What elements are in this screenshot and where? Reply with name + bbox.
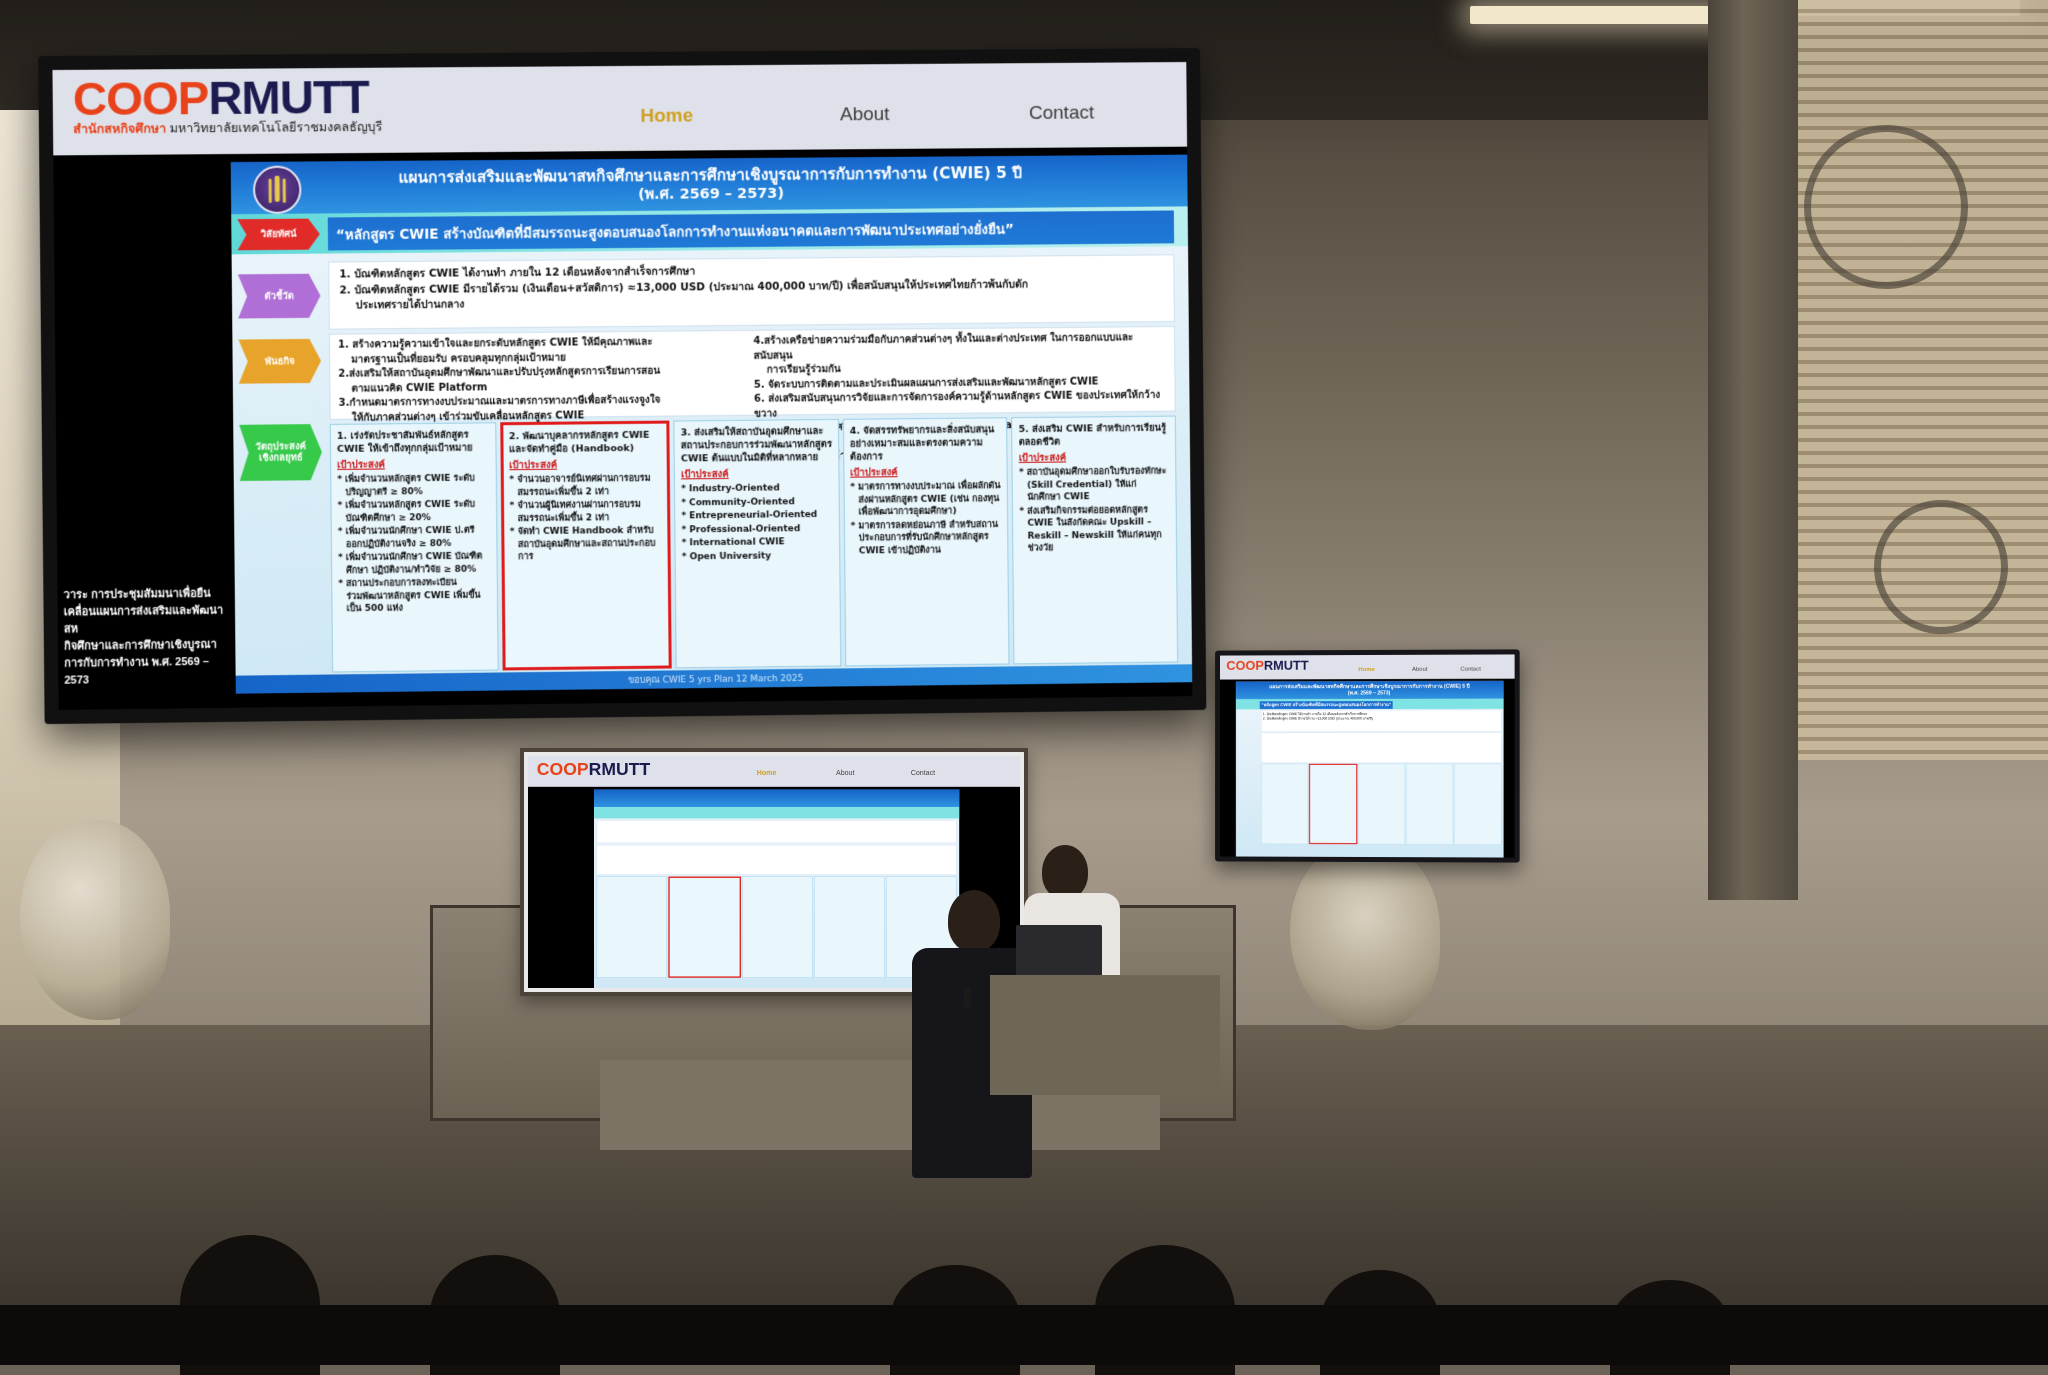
site-header: COOPRMUTT สำนักสหกิจศึกษา มหาวิทยาลัยเทค… — [52, 62, 1187, 155]
objectives-row: 1. เร่งรัดประชาสัมพันธ์หลักสูตร CWIE ให้… — [330, 416, 1178, 673]
objective-4-heading: 4. จัดสรรทรัพยากรและสิ่งสนับสนุนอย่างเหม… — [850, 423, 1001, 463]
objective-column-2-highlighted: 2. พัฒนาบุคลากรหลักสูตร CWIE และจัดทำคู่… — [500, 421, 672, 671]
tv-screen: COOPRMUTT สำนักสหกิจศึกษา มหาวิทยาลัยเทค… — [52, 62, 1192, 710]
objective-3-goal-label: เป้าประสงค์ — [681, 466, 832, 483]
kpi-box: 1. บัณฑิตหลักสูตร CWIE ได้งานทำ ภายใน 12… — [328, 254, 1175, 329]
nav-item-about[interactable]: About — [840, 104, 890, 126]
presentation-slide: แผนการส่งเสริมและพัฒนาสหกิจศึกษาและการศึ… — [231, 155, 1193, 694]
slide-title-bar: แผนการส่งเสริมและพัฒนาสหกิจศึกษาและการศึ… — [231, 155, 1188, 215]
tag-obj-line2: เชิงกลยุทธ์ — [259, 452, 303, 463]
audience-row-shadow — [0, 1305, 2048, 1365]
objective-3-item-5: * International CWIE — [682, 536, 833, 550]
site-brand-logo[interactable]: COOPRMUTT สำนักสหกิจศึกษา มหาวิทยาลัยเทค… — [73, 71, 421, 137]
objective-5-item-2: * ส่งเสริมกิจกรรมต่อยอดหลักสูตร CWIE ในส… — [1019, 504, 1170, 555]
objective-1-item-3: * เพิ่มจำนวนนักศึกษา CWIE ป.ตรี ออกปฏิบั… — [338, 524, 490, 551]
objective-5-heading: 5. ส่งเสริม CWIE สำหรับการเรียนรู้ตลอดชี… — [1018, 422, 1169, 449]
mission-column-left: 1. สร้างความรู้ความเข้าใจและยกระดับหลักส… — [338, 335, 754, 415]
objective-5-goal-label: เป้าประสงค์ — [1019, 449, 1170, 465]
objective-2-item-1: * จำนวนอาจารย์นิเทศผ่านการอบรมสมรรถนะเพิ… — [509, 473, 661, 500]
brand-wordmark: COOPRMUTT — [73, 71, 420, 124]
nav-item-home[interactable]: Home — [640, 105, 693, 127]
flower-arrangement-right — [1290, 840, 1440, 1030]
main-display-tv: COOPRMUTT สำนักสหกิจศึกษา มหาวิทยาลัยเทค… — [38, 48, 1206, 724]
caption-line-3: กิจศึกษาและการศึกษาเชิงบูรณา — [64, 637, 233, 656]
brand-subtitle: สำนักสหกิจศึกษา มหาวิทยาลัยเทคโนโลยีราชม… — [73, 120, 420, 138]
brand-office-th: สำนักสหกิจศึกษา — [73, 121, 166, 136]
ceiling-fan-1 — [1804, 125, 1968, 289]
secondary-display-tv: COOPRMUTT Home About Contact แผนการส่งเส… — [1215, 649, 1520, 862]
tag-obj-line1: วัตถุประสงค์ — [255, 441, 306, 453]
broadcast-caption: วาระ การประชุมสัมมนาเพื่อยืน เคลื่อนแผนก… — [64, 585, 234, 689]
objective-5-item-1: * สถาบันอุดมศึกษาออกใบรับรองทักษะ (Skill… — [1019, 465, 1170, 504]
objective-1-item-2: * เพิ่มจำนวนหลักสูตร CWIE ระดับบัณฑิตศึก… — [337, 498, 489, 525]
mission-column-right: 4.สร้างเครือข่ายความร่วมมือกับภาคส่วนต่า… — [753, 331, 1166, 411]
objective-1-item-4: * เพิ่มจำนวนนักศึกษา CWIE บัณฑิตศึกษา ปฏ… — [338, 550, 490, 577]
presenter-head — [948, 890, 1000, 952]
secondary-tv-screen: COOPRMUTT Home About Contact แผนการส่งเส… — [1220, 654, 1515, 857]
primary-nav: Home About Contact — [455, 62, 1187, 152]
objective-2-item-2: * จำนวนผู้นิเทศงานผ่านการอบรมสมรรถนะเพิ่… — [510, 499, 662, 526]
mission-right-1: 4.สร้างเครือข่ายความร่วมมือกับภาคส่วนต่า… — [753, 331, 1160, 364]
podium-table — [990, 975, 1220, 1095]
objective-column-3: 3. ส่งเสริมให้สถาบันอุดมศึกษาและสถานประก… — [674, 419, 842, 669]
objective-3-heading: 3. ส่งเสริมให้สถาบันอุดมศึกษาและสถานประก… — [681, 425, 833, 465]
objective-3-item-4: * Professional-Oriented — [681, 522, 832, 536]
objective-4-item-2: * มาตรการลดหย่อนภาษี สำหรับสถานประกอบการ… — [851, 518, 1002, 557]
objective-3-item-1: * Industry-Oriented — [681, 482, 832, 496]
objective-column-4: 4. จัดสรรทรัพยากรและสิ่งสนับสนุนอย่างเหม… — [843, 417, 1010, 666]
microphone-icon — [964, 986, 971, 1008]
objective-1-goal-label: เป้าประสงค์ — [337, 456, 489, 473]
objective-2-item-3: * จัดทำ CWIE Handbook สำหรับสถาบันอุดมศึ… — [510, 525, 662, 564]
objective-3-item-3: * Entrepreneurial-Oriented — [681, 509, 832, 523]
brand-university-th: มหาวิทยาลัยเทคโนโลยีราชมงคลธัญบุรี — [170, 120, 383, 136]
moderator-head — [1042, 845, 1088, 899]
slide-title-line1: แผนการส่งเสริมและพัฒนาสหกิจศึกษาและการศึ… — [398, 163, 1022, 187]
tag-mission: พันธกิจ — [238, 339, 321, 384]
objective-3-item-2: * Community-Oriented — [681, 495, 832, 509]
objective-1-item-5: * สถานประกอบการลงทะเบียนร่วมพัฒนาหลักสูต… — [338, 577, 490, 616]
secondary-slide-mirror: COOPRMUTT Home About Contact แผนการส่งเส… — [1220, 654, 1515, 857]
brand-rmutt-text: RMUTT — [208, 70, 369, 124]
tag-vision: วิสัยทัศน์ — [237, 219, 320, 251]
caption-line-2: เคลื่อนแผนการส่งเสริมและพัฒนาสห — [64, 602, 234, 638]
objective-2-heading: 2. พัฒนาบุคลากรหลักสูตร CWIE และจัดทำคู่… — [509, 429, 661, 457]
mission-box: 1. สร้างความรู้ความเข้าใจและยกระดับหลักส… — [329, 326, 1176, 420]
objective-column-5: 5. ส่งเสริม CWIE สำหรับการเรียนรู้ตลอดชี… — [1011, 416, 1178, 665]
rmutt-university-seal-icon — [253, 166, 302, 215]
objective-column-1: 1. เร่งรัดประชาสัมพันธ์หลักสูตร CWIE ให้… — [330, 422, 499, 672]
brand-coop-text: COOP — [73, 71, 209, 125]
vision-statement-text: “หลักสูตร CWIE สร้างบัณฑิตที่มีสมรรถนะสู… — [336, 217, 1014, 245]
objective-4-item-1: * มาตรการทางงบประมาณ เพื่อผลักดันส่งผ่าน… — [850, 480, 1001, 519]
objective-1-heading: 1. เร่งรัดประชาสัมพันธ์หลักสูตร CWIE ให้… — [337, 428, 489, 456]
objective-2-goal-label: เป้าประสงค์ — [509, 457, 661, 474]
objective-3-item-6: * Open University — [682, 549, 833, 563]
ceiling-fan-2 — [1874, 500, 2008, 634]
objective-1-item-1: * เพิ่มจำนวนหลักสูตร CWIE ระดับปริญญาตรี… — [337, 472, 489, 499]
caption-line-4: การกับการทำงาน พ.ศ. 2569 – 2573 — [64, 654, 234, 690]
tag-kpi: ตัวชี้วัด — [238, 274, 321, 319]
slide-viewport: วาระ การประชุมสัมมนาเพื่อยืน เคลื่อนแผนก… — [53, 147, 1192, 710]
ceiling-pillar — [1708, 0, 1798, 900]
objective-4-goal-label: เป้าประสงค์ — [850, 464, 1001, 481]
window-blinds — [1798, 0, 2048, 760]
nav-item-contact[interactable]: Contact — [1029, 103, 1094, 125]
slide-title-line2: (พ.ศ. 2569 – 2573) — [638, 184, 784, 203]
tag-strategic-objective: วัตถุประสงค์ เชิงกลยุทธ์ — [239, 424, 322, 481]
caption-line-1: วาระ การประชุมสัมมนาเพื่อยืน — [64, 585, 233, 604]
